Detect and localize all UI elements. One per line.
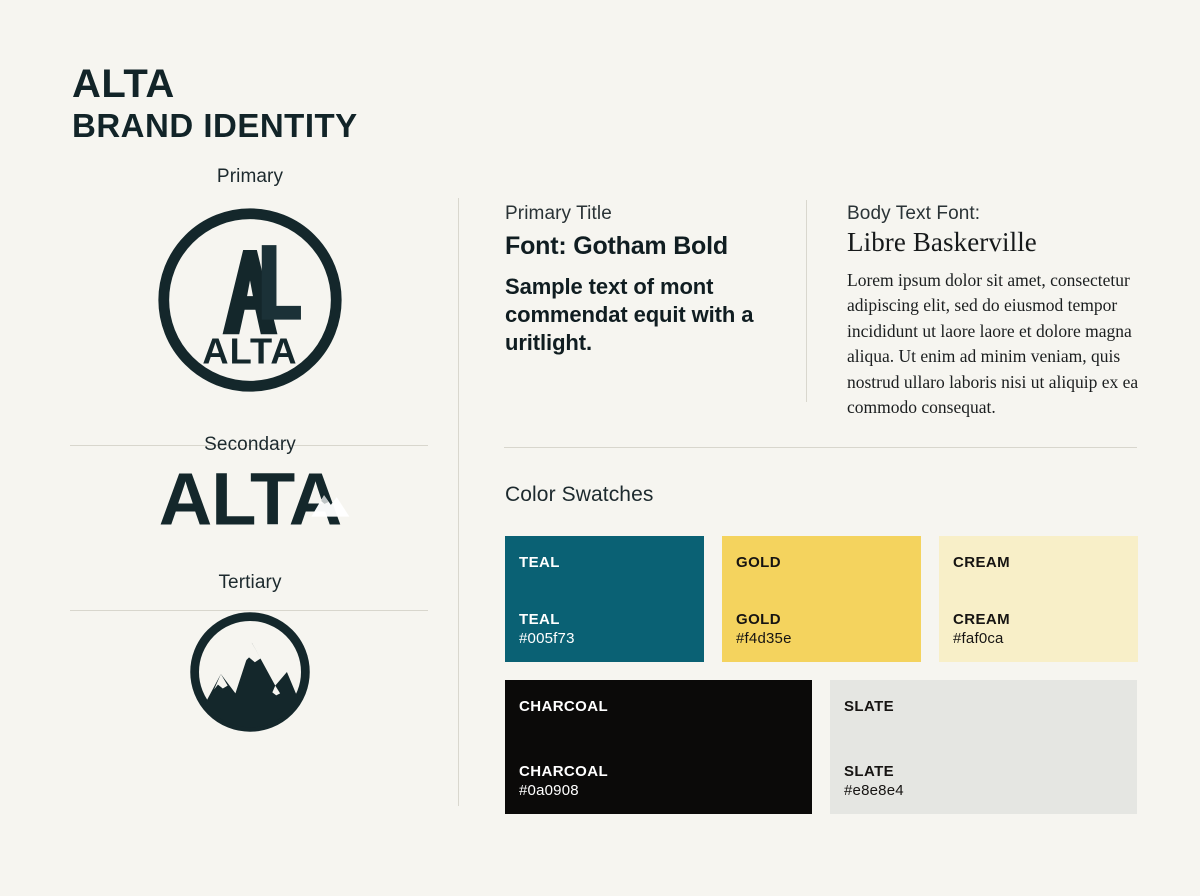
swatch-teal-top-name: TEAL [519, 554, 690, 571]
divider-logo-content [458, 198, 459, 806]
typography-body-block: Body Text Font: Libre Baskerville Lorem … [847, 203, 1139, 420]
swatch-gold-name: GOLD [736, 611, 907, 629]
logo-variant-tertiary: Tertiary [70, 572, 430, 740]
logo-variant-secondary: Secondary ALTA [70, 434, 430, 538]
swatch-slate-hex: #e8e8e4 [844, 782, 1123, 800]
swatch-charcoal-top-name: CHARCOAL [519, 698, 798, 715]
secondary-logo-mark: ALTA [131, 462, 369, 538]
brand-identity-board: ALTA BRAND IDENTITY Primary ALTA [0, 0, 1200, 896]
primary-logo-mark: ALTA [152, 202, 348, 398]
swatch-cream-name: CREAM [953, 611, 1124, 629]
swatch-cream-top-name: CREAM [953, 554, 1124, 571]
swatch-gold[interactable]: GOLD GOLD #f4d35e [722, 536, 921, 662]
svg-text:ALTA: ALTA [159, 462, 342, 538]
swatch-teal-hex: #005f73 [519, 630, 690, 648]
swatch-slate[interactable]: SLATE SLATE #e8e8e4 [830, 680, 1137, 814]
primary-logo-label: Primary [70, 166, 430, 188]
logo-variants-column: Primary ALTA Secondary ALTA [70, 166, 430, 740]
swatch-charcoal-hex: #0a0908 [519, 782, 798, 800]
body-font-name: Libre Baskerville [847, 227, 1139, 258]
swatch-teal[interactable]: TEAL TEAL #005f73 [505, 536, 704, 662]
body-font-eyebrow: Body Text Font: [847, 203, 1139, 225]
tertiary-logo-label: Tertiary [70, 572, 430, 594]
primary-font-name: Font: Gotham Bold [505, 232, 793, 261]
logo-variant-primary: Primary ALTA [70, 166, 430, 398]
swatch-gold-hex: #f4d35e [736, 630, 907, 648]
divider-typography-columns [806, 200, 807, 402]
masthead: ALTA BRAND IDENTITY [72, 64, 492, 142]
brand-title-line-2: BRAND IDENTITY [72, 109, 492, 143]
swatch-teal-name: TEAL [519, 611, 690, 629]
swatch-charcoal[interactable]: CHARCOAL CHARCOAL #0a0908 [505, 680, 812, 814]
swatch-cream-hex: #faf0ca [953, 630, 1124, 648]
svg-text:ALTA: ALTA [202, 331, 297, 372]
tertiary-logo-mark [182, 604, 318, 740]
swatch-slate-top-name: SLATE [844, 698, 1123, 715]
swatch-gold-top-name: GOLD [736, 554, 907, 571]
swatch-row-primary: TEAL TEAL #005f73 GOLD GOLD #f4d35e CREA… [505, 536, 1138, 662]
brand-title-line-1: ALTA [72, 64, 492, 105]
color-swatch-grid: TEAL TEAL #005f73 GOLD GOLD #f4d35e CREA… [505, 536, 1138, 814]
swatch-row-neutral: CHARCOAL CHARCOAL #0a0908 SLATE SLATE #e… [505, 680, 1138, 814]
swatch-slate-name: SLATE [844, 763, 1123, 781]
color-swatches-title: Color Swatches [505, 483, 653, 507]
typography-primary-block: Primary Title Font: Gotham Bold Sample t… [505, 203, 793, 357]
body-font-sample: Lorem ipsum dolor sit amet, consectetur … [847, 268, 1139, 420]
swatch-charcoal-name: CHARCOAL [519, 763, 798, 781]
secondary-logo-label: Secondary [70, 434, 430, 456]
primary-font-eyebrow: Primary Title [505, 203, 793, 225]
primary-font-sample: Sample text of mont commendat equit with… [505, 273, 793, 357]
swatch-cream[interactable]: CREAM CREAM #faf0ca [939, 536, 1138, 662]
divider-typography-swatches [504, 447, 1137, 448]
